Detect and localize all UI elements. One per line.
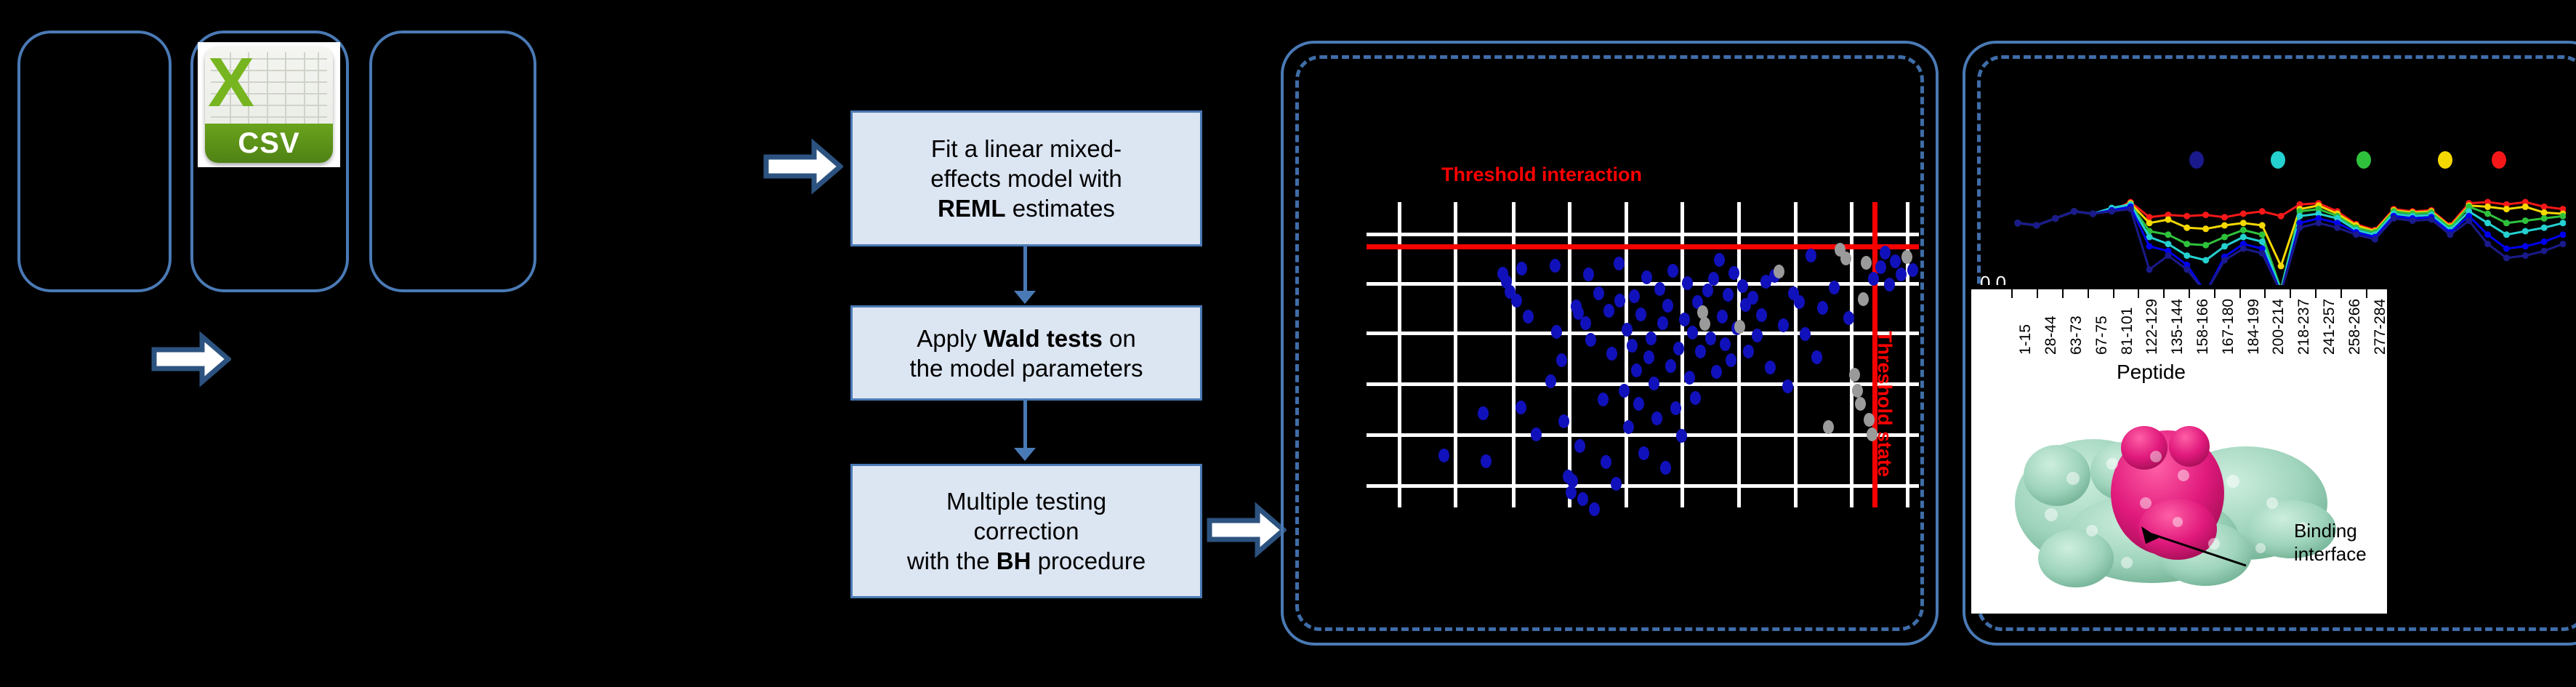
point-series-navy bbox=[2146, 266, 2153, 273]
point-series-blue bbox=[2484, 231, 2491, 238]
point-series-yellow bbox=[2221, 222, 2228, 229]
point-series-green bbox=[2240, 227, 2247, 233]
point-series-red bbox=[2202, 212, 2209, 218]
peptide-tick-label: 28-44 bbox=[2042, 316, 2060, 355]
point-series-navy bbox=[2240, 246, 2247, 252]
binding-interface-annotation: Binding interface bbox=[2294, 519, 2367, 566]
protein-figure-card: 1-1528-4463-7367-7581-101122-129135-1441… bbox=[1971, 285, 2387, 614]
peptide-tick bbox=[2037, 289, 2038, 298]
peptide-tick-label: 200-214 bbox=[2270, 299, 2287, 355]
peptide-tick bbox=[2264, 289, 2266, 298]
peptide-tick bbox=[2088, 289, 2089, 298]
point-series-navy bbox=[2315, 220, 2322, 226]
point-series-green bbox=[2541, 215, 2548, 222]
peptide-tick bbox=[2340, 289, 2342, 298]
peptide-tick bbox=[2163, 289, 2165, 298]
peptide-tick bbox=[2214, 289, 2215, 298]
bh-line3-post: procedure bbox=[1031, 547, 1146, 574]
point-series-navy bbox=[2428, 217, 2434, 223]
point-series-navy bbox=[2296, 225, 2303, 231]
wald-tests-term: Wald tests bbox=[983, 325, 1103, 352]
point-series-cyan bbox=[2484, 220, 2491, 226]
connector-fit-to-wald bbox=[1023, 246, 1027, 292]
connector-wald-to-bh bbox=[1023, 401, 1027, 449]
point-series-navy bbox=[2560, 241, 2567, 247]
bh-correction-box: Multiple testing correction with the BH … bbox=[850, 464, 1202, 598]
arrow-analysis-to-scatter bbox=[1207, 502, 1287, 558]
binding-label-line2: interface bbox=[2294, 542, 2367, 566]
point-series-red bbox=[2541, 204, 2548, 210]
peptide-tick-label: 158-166 bbox=[2194, 299, 2212, 355]
fit-model-line1: Fit a linear mixed- bbox=[931, 135, 1122, 162]
point-series-navy bbox=[2447, 231, 2453, 238]
peptide-tick-label: 241-257 bbox=[2321, 299, 2338, 355]
csv-label: CSV bbox=[238, 127, 299, 160]
point-series-yellow bbox=[2278, 263, 2285, 270]
point-series-yellow bbox=[2541, 209, 2548, 216]
wald-tests-box: Apply Wald tests on the model parameters bbox=[850, 305, 1202, 401]
csv-file-card: X CSV bbox=[198, 42, 340, 167]
peptide-tick-label: 122-129 bbox=[2144, 299, 2161, 355]
point-series-navy bbox=[2484, 241, 2491, 247]
point-series-navy bbox=[2221, 257, 2228, 264]
peptide-tick-label: 1-15 bbox=[2017, 324, 2034, 355]
point-series-navy bbox=[2334, 225, 2340, 231]
point-series-cyan bbox=[2221, 243, 2228, 249]
point-series-navy bbox=[2033, 222, 2040, 229]
point-series-navy bbox=[2410, 217, 2416, 224]
peptide-tick bbox=[2366, 289, 2367, 298]
wald-line1-post: on bbox=[1103, 325, 1136, 352]
peptide-tick-label: 135-144 bbox=[2169, 299, 2186, 355]
peptide-tick-labels: 1-1528-4463-7367-7581-101122-129135-1441… bbox=[1971, 301, 2387, 359]
point-series-blue bbox=[2146, 243, 2153, 249]
point-series-yellow bbox=[2240, 220, 2247, 226]
point-series-red bbox=[2221, 214, 2228, 220]
point-series-green bbox=[2221, 234, 2228, 241]
protein-structure-render bbox=[2006, 394, 2348, 598]
fit-model-line3-post: estimates bbox=[1006, 195, 1115, 222]
pipeline-diagram: X CSV Fit a linear mixed- effects model … bbox=[0, 0, 2576, 687]
arrow-csv-to-analysis bbox=[763, 138, 843, 195]
point-series-cyan bbox=[2165, 241, 2171, 247]
point-series-cyan bbox=[2503, 231, 2510, 238]
point-series-cyan bbox=[2259, 238, 2266, 245]
peptide-tick bbox=[2189, 289, 2190, 298]
point-series-blue bbox=[2503, 246, 2510, 252]
point-series-red bbox=[2278, 213, 2285, 220]
point-series-navy bbox=[2165, 252, 2171, 259]
analysis-panel bbox=[369, 31, 536, 292]
point-series-green bbox=[2503, 220, 2510, 226]
excel-x-letter: X bbox=[208, 48, 254, 118]
peptide-line-chart bbox=[1992, 131, 2566, 300]
point-series-navy bbox=[2109, 208, 2115, 214]
point-series-yellow bbox=[2202, 225, 2209, 232]
point-series-green bbox=[2484, 211, 2491, 217]
point-series-navy bbox=[2090, 211, 2096, 217]
bh-line3-pre: with the bbox=[907, 547, 997, 574]
peptide-tick-label: 67-75 bbox=[2093, 316, 2111, 355]
threshold-interaction-label: Threshold interaction bbox=[1441, 164, 1642, 186]
point-series-cyan bbox=[2202, 257, 2209, 264]
point-series-cyan bbox=[2183, 252, 2190, 259]
point-series-green bbox=[2183, 241, 2190, 247]
point-series-red bbox=[2183, 213, 2190, 220]
point-series-cyan bbox=[2296, 213, 2303, 220]
bh-line2: correction bbox=[974, 518, 1079, 545]
peptide-tick bbox=[2239, 289, 2241, 298]
point-series-navy bbox=[2015, 220, 2021, 226]
point-series-navy bbox=[2259, 250, 2266, 257]
arrow-input-to-csv bbox=[151, 331, 231, 387]
point-series-navy bbox=[2503, 254, 2510, 261]
point-series-yellow bbox=[2146, 220, 2153, 226]
peptide-tick-label: 258-266 bbox=[2346, 299, 2364, 355]
peptide-series-lines bbox=[1992, 131, 2566, 300]
point-series-green bbox=[2202, 242, 2209, 249]
point-series-navy bbox=[2541, 248, 2548, 254]
peptide-tick bbox=[2138, 289, 2139, 298]
peptide-tick-label: 81-101 bbox=[2119, 308, 2136, 355]
peptide-tick bbox=[2113, 289, 2114, 298]
csv-file-icon: X CSV bbox=[205, 47, 333, 163]
bh-term: BH bbox=[997, 547, 1031, 574]
point-series-navy bbox=[2128, 206, 2134, 212]
input-panel bbox=[17, 31, 172, 292]
peptide-tick-label: 218-237 bbox=[2295, 299, 2313, 355]
point-series-navy bbox=[2183, 266, 2190, 273]
point-series-navy bbox=[2353, 231, 2359, 238]
point-series-green bbox=[2259, 231, 2266, 238]
point-series-yellow bbox=[2484, 204, 2491, 210]
point-series-blue bbox=[2541, 238, 2548, 245]
peptide-tick bbox=[2290, 289, 2291, 298]
peptide-tick-label: 167-180 bbox=[2220, 299, 2237, 355]
peptide-tick-group bbox=[1971, 289, 2387, 300]
threshold-state-label: Threshold state bbox=[1873, 331, 1896, 477]
peptide-tick-label: 63-73 bbox=[2068, 316, 2085, 355]
point-series-yellow bbox=[2503, 206, 2510, 212]
point-series-green bbox=[2522, 217, 2529, 224]
bh-line1: Multiple testing bbox=[946, 488, 1106, 515]
point-series-cyan bbox=[2541, 225, 2548, 231]
line-series-green bbox=[2018, 204, 2563, 289]
peptide-tick bbox=[2011, 289, 2013, 298]
fit-model-box: Fit a linear mixed- effects model with R… bbox=[850, 111, 1202, 246]
point-series-yellow bbox=[2183, 225, 2190, 231]
point-series-navy bbox=[2466, 217, 2472, 224]
wald-line1-pre: Apply bbox=[917, 325, 983, 352]
point-series-green bbox=[2165, 231, 2171, 238]
point-series-yellow bbox=[2165, 217, 2171, 223]
interaction-scatter-plot bbox=[1367, 202, 1919, 507]
point-series-red bbox=[2240, 211, 2247, 217]
point-series-cyan bbox=[2560, 220, 2567, 226]
point-series-cyan bbox=[2240, 234, 2247, 241]
point-series-yellow bbox=[2522, 204, 2529, 210]
point-series-navy bbox=[2372, 236, 2378, 243]
point-series-blue bbox=[2522, 243, 2529, 249]
peptide-tick-label: 277-284 bbox=[2372, 299, 2387, 355]
point-series-blue bbox=[2560, 231, 2567, 238]
point-series-navy bbox=[2071, 208, 2077, 214]
peptide-tick bbox=[2062, 289, 2064, 298]
point-series-navy bbox=[2522, 252, 2529, 259]
point-series-navy bbox=[2052, 215, 2058, 222]
point-series-yellow bbox=[2259, 222, 2266, 229]
binding-label-line1: Binding bbox=[2294, 519, 2367, 542]
point-series-cyan bbox=[2522, 228, 2529, 235]
fit-model-line2: effects model with bbox=[930, 165, 1122, 192]
fit-model-reml: REML bbox=[938, 195, 1006, 222]
point-series-red bbox=[2259, 208, 2266, 214]
peptide-tick bbox=[2315, 289, 2317, 298]
wald-line2: the model parameters bbox=[910, 355, 1143, 382]
csv-label-band: CSV bbox=[205, 124, 333, 163]
peptide-axis-title: Peptide bbox=[2117, 361, 2186, 384]
point-series-navy bbox=[2391, 215, 2397, 222]
peptide-tick-label: 184-199 bbox=[2245, 299, 2263, 355]
